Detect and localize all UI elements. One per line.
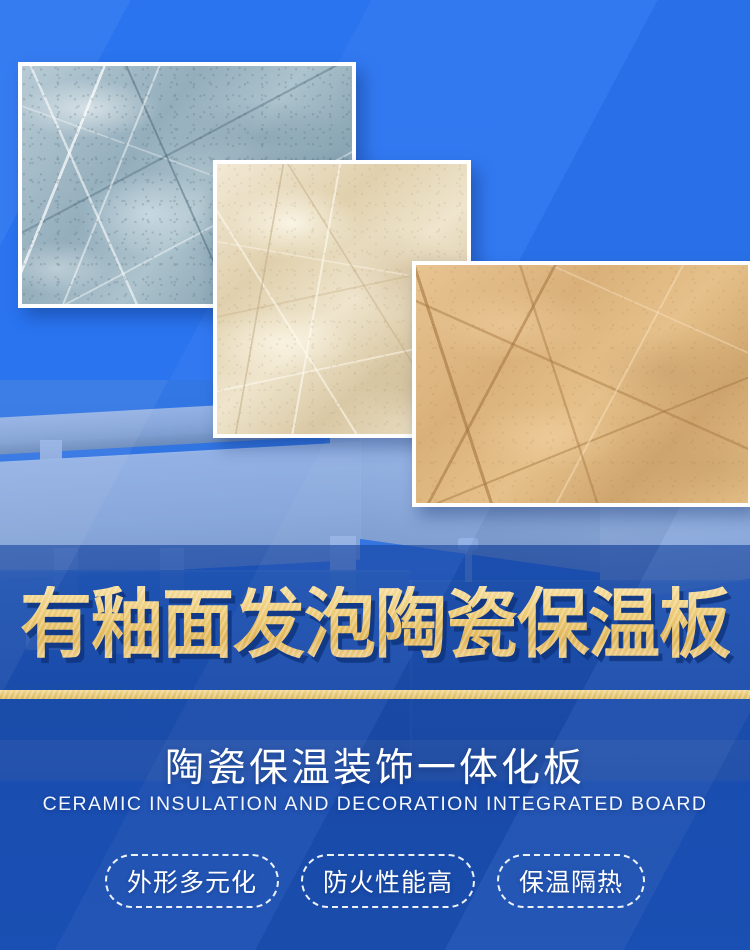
product-headline: 有釉面发泡陶瓷保温板 bbox=[20, 586, 730, 662]
headline-container: 有釉面发泡陶瓷保温板 bbox=[0, 578, 750, 670]
feature-pill-2[interactable]: 防火性能高 bbox=[301, 854, 475, 908]
feature-pill-3[interactable]: 保温隔热 bbox=[497, 854, 645, 908]
subtitle-chinese: 陶瓷保温装饰一体化板 bbox=[0, 737, 750, 793]
feature-pill-1[interactable]: 外形多元化 bbox=[105, 854, 279, 908]
gold-divider bbox=[0, 690, 750, 699]
tan-marble-tile bbox=[412, 261, 750, 507]
feature-pill-list: 外形多元化 防火性能高 保温隔热 bbox=[0, 853, 750, 909]
tile-speckle bbox=[416, 265, 748, 503]
product-poster: 有釉面发泡陶瓷保温板 陶瓷保温装饰一体化板 CERAMIC INSULATION… bbox=[0, 0, 750, 950]
subtitle-english: CERAMIC INSULATION AND DECORATION INTEGR… bbox=[0, 793, 750, 816]
